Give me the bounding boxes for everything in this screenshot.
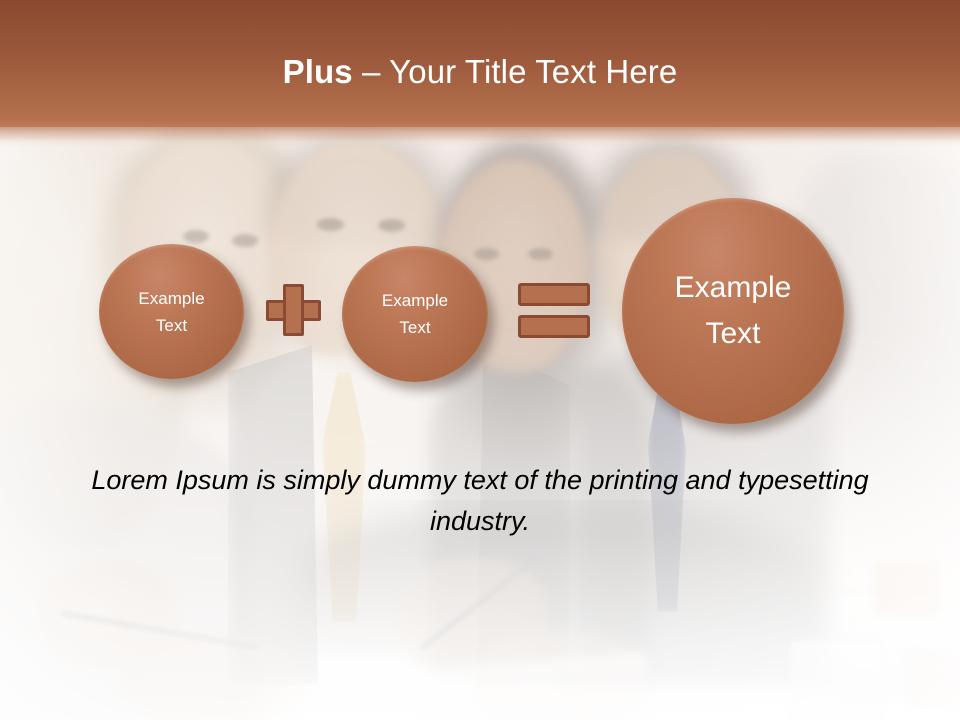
diagram-circle-3-line2: Text xyxy=(705,311,760,357)
page-title-strong: Plus xyxy=(283,53,353,90)
slide-canvas: Plus – Your Title Text Here Example Text… xyxy=(0,0,960,720)
title-bar-fade xyxy=(0,121,960,147)
diagram-circle-2[interactable]: Example Text xyxy=(342,246,488,382)
page-title: Plus – Your Title Text Here xyxy=(0,52,960,92)
diagram-circle-3[interactable]: Example Text xyxy=(622,198,844,424)
plus-icon xyxy=(266,284,321,336)
body-text: Lorem Ipsum is simply dummy text of the … xyxy=(90,460,870,542)
plus-icon-center-fill xyxy=(286,303,301,318)
diagram-circle-2-line1: Example xyxy=(382,287,448,314)
diagram-circle-1-line2: Text xyxy=(156,312,187,339)
diagram-circle-2-line2: Text xyxy=(399,314,430,341)
equals-icon xyxy=(518,283,590,338)
page-title-rest: – Your Title Text Here xyxy=(353,53,678,90)
diagram-circle-1-line1: Example xyxy=(138,285,204,312)
equals-icon-bottom-bar xyxy=(518,315,590,338)
diagram-circle-3-line1: Example xyxy=(675,265,792,311)
diagram-circle-1[interactable]: Example Text xyxy=(99,244,244,379)
equals-icon-top-bar xyxy=(518,283,590,306)
